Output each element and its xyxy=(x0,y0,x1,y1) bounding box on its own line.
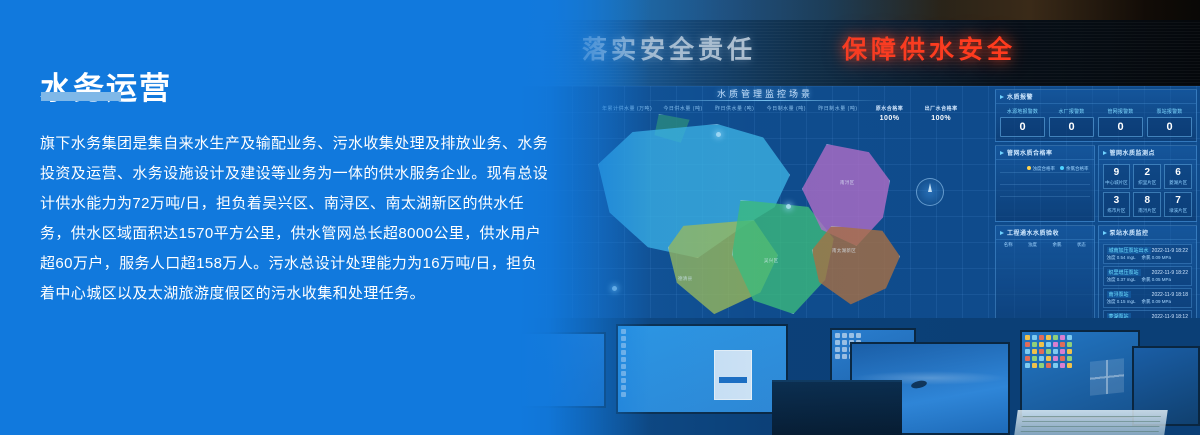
district-map: 德清县 吴兴区 南太湖新区 南浔区 xyxy=(550,108,930,323)
alarm-card-label: 水源地报警数 xyxy=(1000,108,1045,115)
map-point-marker[interactable] xyxy=(786,204,791,209)
column-header: 余氯 xyxy=(1052,242,1061,248)
slogan-right: 保障供水安全 xyxy=(842,30,1016,66)
monitor-point-name: 菱湖片区 xyxy=(1165,180,1191,186)
monitor-point-count: 8 xyxy=(1134,196,1160,206)
panel-body: 水源地报警数 0 水厂报警数 0 管网报警数 0 xyxy=(996,104,1196,141)
desktop-icon-grid xyxy=(621,329,626,397)
alarm-card: 水源地报警数 0 xyxy=(1000,108,1045,137)
alarm-card-label: 水厂报警数 xyxy=(1049,108,1094,115)
pump-feed-item[interactable]: 南浔泵站 2022-11-9 18:18 浊度 0.15 mgL 余氯 0.09… xyxy=(1103,288,1193,308)
legend-item: 浊度合格率 xyxy=(1027,166,1056,172)
monitor-point-name: 织里片区 xyxy=(1134,180,1160,186)
operator-desk-row xyxy=(520,318,1200,435)
chart-legend: 浊度合格率 余氯合格率 xyxy=(1027,166,1089,172)
pump-feed-item[interactable]: 织里增压泵站 2022-11-9 18:22 浊度 0.37 mgL 余氯 0.… xyxy=(1103,266,1193,286)
dashboard-sidebar: 水质报警 水源地报警数 0 水厂报警数 0 xyxy=(992,86,1200,326)
monitor-point-cell[interactable]: 6 菱湖片区 xyxy=(1164,164,1192,189)
pump-chlorine: 余氯 0.09 MPa xyxy=(1142,255,1172,261)
monitor-point-name: 练市片区 xyxy=(1104,208,1130,214)
panel-title: 工程通水水质验收 xyxy=(1007,228,1059,237)
monitor-point-name: 埭溪片区 xyxy=(1165,208,1191,214)
laptop-device xyxy=(772,380,902,435)
monitor-point-cell[interactable]: 3 练市片区 xyxy=(1103,192,1131,217)
water-operations-banner: 落实安全责任 保障供水安全 水质管理监控场景 年累计供水量 (万吨) 今日供水量… xyxy=(0,0,1200,435)
map-district-nantaihu[interactable] xyxy=(812,226,900,306)
description-paragraph: 旗下水务集团是集自来水生产及输配业务、污水收集处理及排放业务、水务投资及运营、水… xyxy=(40,129,550,309)
map-point-marker[interactable] xyxy=(716,132,721,137)
monitor-point-count: 7 xyxy=(1165,196,1191,206)
caret-right-icon xyxy=(1000,231,1004,235)
map-label-wuxing: 吴兴区 xyxy=(764,258,778,264)
pump-time: 2022-11-9 18:22 xyxy=(1152,248,1188,254)
monitor-screen-windows xyxy=(1020,330,1140,418)
monitor-point-count: 3 xyxy=(1104,196,1130,206)
pump-turbidity: 浊度 0.37 mgL xyxy=(1107,277,1136,283)
panel-body: 城南加压泵站出水 2022-11-9 18:22 浊度 0.54 mgL 余氯 … xyxy=(1099,240,1197,326)
pump-name: 城南加压泵站出水 xyxy=(1107,247,1151,254)
alarm-card: 水厂报警数 0 xyxy=(1049,108,1094,137)
pump-time: 2022-11-9 18:22 xyxy=(1152,270,1188,276)
title-underline-rule xyxy=(41,92,121,101)
monitor-point-count: 2 xyxy=(1134,168,1160,178)
pump-turbidity: 浊度 0.54 mgL xyxy=(1107,255,1136,261)
slogan-left: 落实安全责任 xyxy=(582,30,756,66)
map-label-nanxun: 南浔区 xyxy=(840,180,854,186)
panel-body: 9 中心城片区 2 织里片区 6 菱湖片区 xyxy=(1099,160,1197,221)
alarm-card-value: 0 xyxy=(1049,117,1094,137)
panel-title: 管网水质监测点 xyxy=(1110,148,1156,157)
panel-header: 水质报警 xyxy=(996,90,1196,104)
login-button[interactable] xyxy=(719,377,747,383)
alarm-card-value: 0 xyxy=(1000,117,1045,137)
pump-feed-item[interactable]: 城南加压泵站出水 2022-11-9 18:22 浊度 0.54 mgL 余氯 … xyxy=(1103,244,1193,264)
alarm-card: 管网报警数 0 xyxy=(1098,108,1143,137)
alarm-card: 泵站报警数 0 xyxy=(1147,108,1192,137)
panel-header: 工程通水水质验收 xyxy=(996,226,1094,240)
map-label-deqing: 德清县 xyxy=(678,276,692,282)
pass-rate-chart: 浊度合格率 余氯合格率 xyxy=(996,160,1094,212)
dashboard-title-rule xyxy=(640,100,890,101)
pump-chlorine: 余氯 0.05 MPa xyxy=(1142,277,1172,283)
monitor-point-cell[interactable]: 2 织里片区 xyxy=(1133,164,1161,189)
column-header: 名称 xyxy=(1004,242,1013,248)
pump-name: 织里增压泵站 xyxy=(1107,269,1141,276)
monitor-point-cell[interactable]: 9 中心城片区 xyxy=(1103,164,1131,189)
text-panel: 水务运营 旗下水务集团是集自来水生产及输配业务、污水收集处理及排放业务、水务投资… xyxy=(0,0,560,435)
caret-right-icon xyxy=(1000,151,1004,155)
panel-pipeline-acceptance: 工程通水水质验收 名称 浊度 余氯 状态 xyxy=(995,225,1095,326)
pump-turbidity: 浊度 0.15 mgL xyxy=(1107,299,1136,305)
monitor-point-cell[interactable]: 7 埭溪片区 xyxy=(1164,192,1192,217)
control-room-photo: 落实安全责任 保障供水安全 水质管理监控场景 年累计供水量 (万吨) 今日供水量… xyxy=(520,0,1200,435)
pump-chlorine: 余氯 0.09 MPa xyxy=(1142,299,1172,305)
map-point-marker[interactable] xyxy=(612,286,617,291)
panel-title: 水质报警 xyxy=(1007,92,1033,101)
login-dialog[interactable] xyxy=(714,350,752,400)
monitor-point-count: 6 xyxy=(1165,168,1191,178)
panel-header: 管网水质合格率 xyxy=(996,146,1094,160)
printed-report xyxy=(1014,410,1168,435)
column-header: 浊度 xyxy=(1028,242,1037,248)
map-compass-icon xyxy=(916,178,944,206)
alarm-card-value: 0 xyxy=(1098,117,1143,137)
alarm-card-label: 泵站报警数 xyxy=(1147,108,1192,115)
dashboard-title: 水质管理监控场景 xyxy=(670,87,860,100)
monitor-point-name: 南浔片区 xyxy=(1134,208,1160,214)
panel-water-quality-alarm: 水质报警 水源地报警数 0 水厂报警数 0 xyxy=(995,89,1197,142)
pump-time: 2022-11-9 18:18 xyxy=(1152,292,1188,298)
monitor-point-cell[interactable]: 8 南浔片区 xyxy=(1133,192,1161,217)
panel-pump-station-monitor: 泵站水质监控 城南加压泵站出水 2022-11-9 18:22 浊度 0.54 … xyxy=(1098,225,1198,326)
panel-title: 泵站水质监控 xyxy=(1110,228,1149,237)
pump-name: 南浔泵站 xyxy=(1107,291,1131,298)
panel-header: 泵站水质监控 xyxy=(1099,226,1197,240)
panel-network-pass-rate: 管网水质合格率 浊度合格率 余氯合格率 xyxy=(995,145,1095,222)
alarm-card-value: 0 xyxy=(1147,117,1192,137)
panel-row-bottom: 工程通水水质验收 名称 浊度 余氯 状态 泵站水质监控 xyxy=(995,225,1197,326)
gis-dashboard: 水质管理监控场景 年累计供水量 (万吨) 今日供水量 (吨) 昨日供水量 (吨)… xyxy=(520,86,1200,326)
panel-row-middle: 管网水质合格率 浊度合格率 余氯合格率 xyxy=(995,145,1197,222)
monitor-screen xyxy=(616,324,788,414)
map-label-nantaihu: 南太湖新区 xyxy=(832,248,856,254)
legend-item: 余氯合格率 xyxy=(1060,166,1089,172)
monitor-point-count: 9 xyxy=(1104,168,1130,178)
monitor-point-name: 中心城片区 xyxy=(1104,180,1130,186)
monitor-point-grid: 9 中心城片区 2 织里片区 6 菱湖片区 xyxy=(1103,164,1193,217)
caret-right-icon xyxy=(1000,95,1004,99)
windows-logo-icon xyxy=(1090,358,1124,396)
column-header: 状态 xyxy=(1077,242,1086,248)
alarm-card-label: 管网报警数 xyxy=(1098,108,1143,115)
caret-right-icon xyxy=(1103,151,1107,155)
panel-network-monitor-points: 管网水质监测点 9 中心城片区 2 织里片区 xyxy=(1098,145,1198,222)
alarm-card-row: 水源地报警数 0 水厂报警数 0 管网报警数 0 xyxy=(1000,108,1192,137)
panel-title: 管网水质合格率 xyxy=(1007,148,1053,157)
ceiling-strip xyxy=(520,0,1200,22)
desktop-icon-grid xyxy=(1025,335,1072,368)
panel-header: 管网水质监测点 xyxy=(1099,146,1197,160)
acceptance-table-header: 名称 浊度 余氯 状态 xyxy=(996,240,1094,250)
caret-right-icon xyxy=(1103,231,1107,235)
